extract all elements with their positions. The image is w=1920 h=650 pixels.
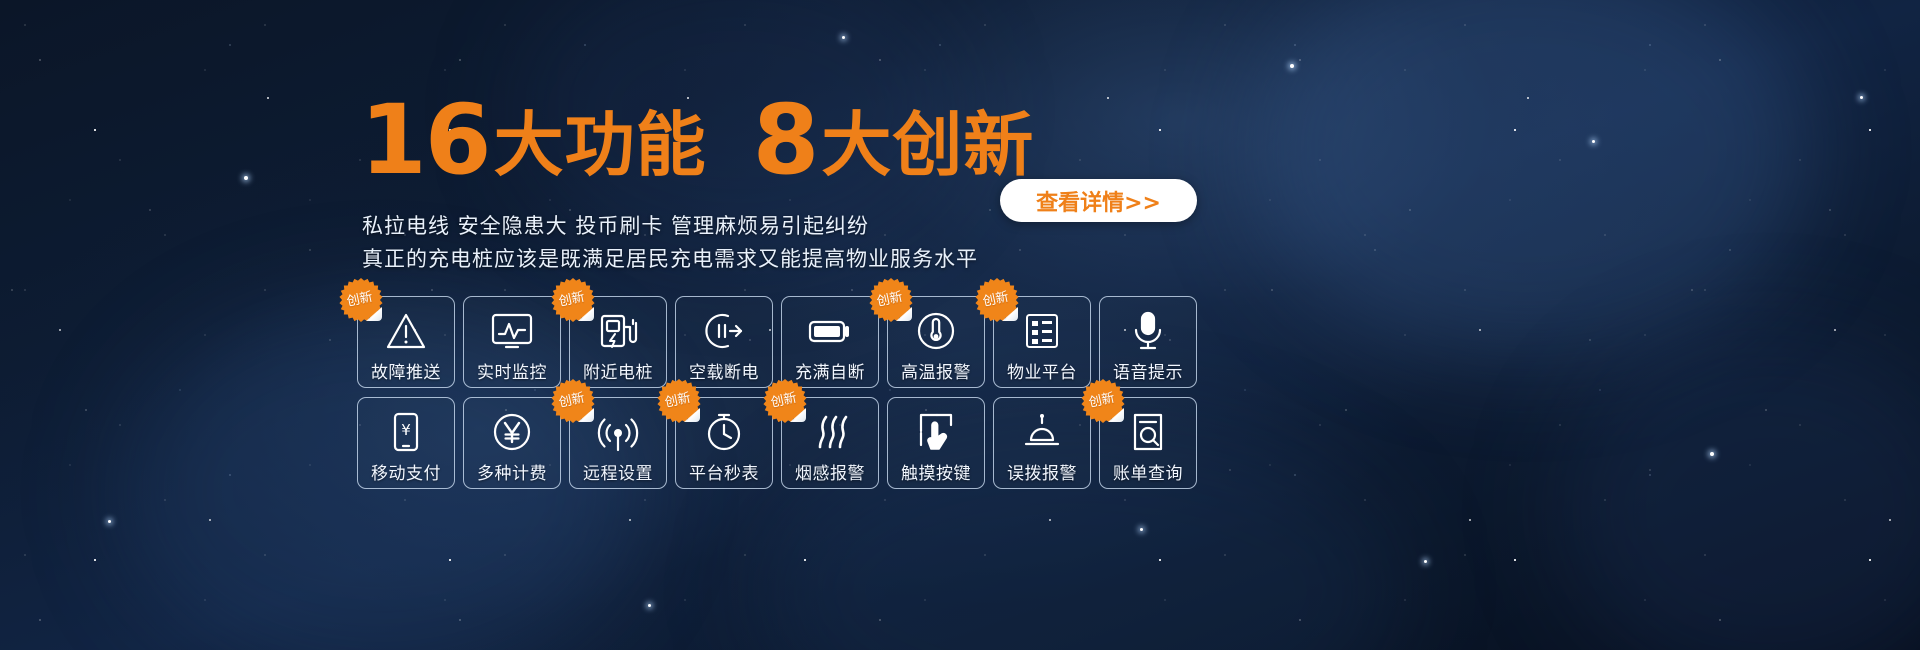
feature-label: 账单查询 (1113, 459, 1183, 484)
feature-full-autostop[interactable]: 充满自断 (781, 296, 879, 388)
feature-label: 移动支付 (371, 459, 441, 484)
feature-high-temp-alarm[interactable]: 创新 高温报警 (887, 296, 985, 388)
view-details-button[interactable]: 查看详情>> (1000, 179, 1197, 222)
feature-row-1: 创新 故障推送 (357, 296, 1207, 388)
mobile-payment-icon: ¥ (390, 408, 422, 455)
innovation-badge-label: 创新 (1088, 391, 1116, 409)
feature-label: 物业平台 (1007, 358, 1077, 383)
feature-fault-push[interactable]: 创新 故障推送 (357, 296, 455, 388)
alarm-bell-icon (1021, 408, 1063, 455)
feature-label: 语音提示 (1113, 358, 1183, 383)
monitor-waveform-icon (490, 307, 534, 354)
feature-remote-settings[interactable]: 创新 远程设置 (569, 397, 667, 489)
wireless-signal-icon (596, 408, 640, 455)
innovation-badge-label: 创新 (346, 290, 374, 308)
yuan-coin-icon (492, 408, 532, 455)
subtitle-line-1: 私拉电线 安全隐患大 投币刷卡 管理麻烦易引起纠纷 (362, 210, 869, 240)
building-icon (1021, 307, 1063, 354)
subtitle-line-2: 真正的充电桩应该是既满足居民充电需求又能提高物业服务水平 (362, 243, 978, 273)
feature-label: 实时监控 (477, 358, 547, 383)
feature-voice-prompt[interactable]: 语音提示 (1099, 296, 1197, 388)
feature-label: 远程设置 (583, 459, 653, 484)
feature-noload-cutoff[interactable]: 空载断电 (675, 296, 773, 388)
bill-search-icon (1128, 408, 1168, 455)
feature-grid: 创新 故障推送 (357, 296, 1207, 498)
headline: 16 大功能 8 大创新 (360, 96, 1034, 184)
thermometer-icon (916, 307, 956, 354)
headline-text-functions: 大功能 (494, 110, 707, 180)
feature-nearby-piles[interactable]: 创新 附近电桩 (569, 296, 667, 388)
feature-label: 平台秒表 (689, 459, 759, 484)
innovation-badge: 创新 (339, 278, 383, 322)
feature-label: 空载断电 (689, 358, 759, 383)
feature-label: 多种计费 (477, 459, 547, 484)
feature-label: 触摸按键 (901, 459, 971, 484)
feature-label: 附近电桩 (583, 358, 653, 383)
feature-label: 高温报警 (901, 358, 971, 383)
feature-label: 故障推送 (371, 358, 441, 383)
innovation-badge-label: 创新 (982, 290, 1010, 308)
feature-touch-buttons[interactable]: 触摸按键 (887, 397, 985, 489)
feature-row-2: ¥ 移动支付 多种计费 (357, 397, 1207, 489)
innovation-badge-label: 创新 (558, 290, 586, 308)
innovation-badge-label: 创新 (770, 391, 798, 409)
feature-property-platform[interactable]: 创新 物业平台 (993, 296, 1091, 388)
innovation-badge-label: 创新 (558, 391, 586, 409)
svg-text:¥: ¥ (401, 421, 411, 439)
feature-label: 充满自断 (795, 358, 865, 383)
microphone-icon (1131, 307, 1165, 354)
feature-smoke-alarm[interactable]: 创新 烟感报警 (781, 397, 879, 489)
feature-misdial-alarm[interactable]: 误拨报警 (993, 397, 1091, 489)
headline-number-8: 8 (753, 96, 818, 184)
innovation-badge-label: 创新 (664, 391, 692, 409)
feature-mobile-payment[interactable]: ¥ 移动支付 (357, 397, 455, 489)
feature-bill-query[interactable]: 创新 账单查询 (1099, 397, 1197, 489)
headline-text-innovations: 大创新 (821, 110, 1034, 180)
feature-label: 烟感报警 (795, 459, 865, 484)
plug-cutoff-icon (702, 307, 746, 354)
stopwatch-icon (704, 408, 744, 455)
feature-platform-stopwatch[interactable]: 创新 平台秒表 (675, 397, 773, 489)
feature-multi-billing[interactable]: 多种计费 (463, 397, 561, 489)
battery-full-icon (807, 307, 853, 354)
feature-label: 误拨报警 (1007, 459, 1077, 484)
feature-realtime-monitor[interactable]: 实时监控 (463, 296, 561, 388)
smoke-detector-icon (808, 408, 852, 455)
innovation-badge-label: 创新 (876, 290, 904, 308)
warning-triangle-icon (385, 307, 427, 354)
touch-hand-icon (915, 408, 957, 455)
headline-number-16: 16 (360, 96, 490, 184)
promo-banner: 16 大功能 8 大创新 私拉电线 安全隐患大 投币刷卡 管理麻烦易引起纠纷 真… (0, 0, 1920, 650)
charging-pile-icon (597, 307, 639, 354)
